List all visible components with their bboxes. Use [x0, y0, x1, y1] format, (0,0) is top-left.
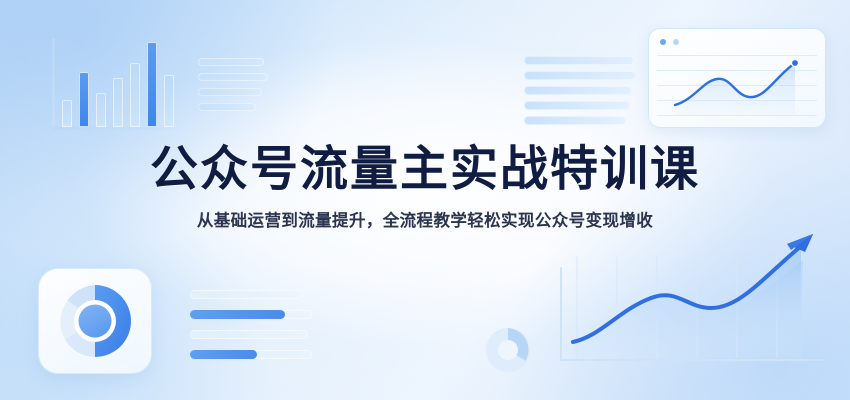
bar — [113, 78, 123, 127]
text-lines-decoration — [524, 56, 636, 131]
line — [198, 58, 264, 66]
mini-donut-svg — [480, 322, 536, 378]
progress-bars-decoration — [190, 290, 312, 370]
line — [524, 116, 626, 125]
course-promo-banner: 公众号流量主实战特训课 从基础运营到流量提升，全流程教学轻松实现公众号变现增收 — [0, 0, 850, 400]
page-subtitle: 从基础运营到流量提升，全流程教学轻松实现公众号变现增收 — [0, 211, 850, 232]
progress-bar — [190, 310, 312, 319]
bar-chart-bars — [62, 38, 182, 127]
progress-bar-fill — [190, 310, 285, 319]
bar — [147, 42, 157, 127]
bar — [79, 72, 89, 127]
bar-chart-y-axis — [52, 38, 55, 130]
bar — [164, 75, 174, 127]
donut-core — [79, 305, 112, 338]
bar-chart-icon — [52, 38, 182, 130]
line — [524, 71, 636, 80]
progress-bar — [190, 290, 302, 299]
mini-donut-hole — [498, 340, 518, 360]
bar-chart-x-axis — [52, 127, 182, 130]
progress-bar-fill — [190, 350, 257, 359]
browser-card-line-chart — [648, 28, 826, 128]
progress-bar — [190, 350, 312, 359]
line — [524, 56, 634, 65]
title-block: 公众号流量主实战特训课 从基础运营到流量提升，全流程教学轻松实现公众号变现增收 — [0, 143, 850, 232]
line — [198, 103, 256, 111]
bar — [96, 93, 106, 127]
donut-chart-svg — [53, 279, 137, 363]
line — [524, 86, 632, 95]
growth-area-chart — [555, 228, 835, 380]
progress-bar — [190, 330, 308, 339]
donut-chart-card — [38, 268, 152, 374]
line — [198, 73, 268, 81]
mini-donut-decoration — [480, 322, 536, 383]
bar — [130, 63, 140, 127]
area-chart-svg — [555, 228, 835, 380]
line-chart-svg — [649, 29, 825, 127]
line-chart-endpoint — [791, 59, 798, 66]
line — [524, 101, 630, 110]
page-title: 公众号流量主实战特训课 — [0, 143, 850, 197]
line — [198, 88, 262, 96]
bar — [62, 100, 72, 127]
text-lines-decoration — [198, 58, 268, 118]
